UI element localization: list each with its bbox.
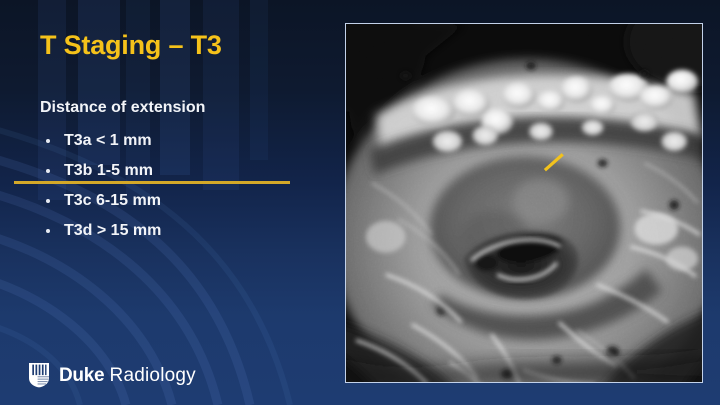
mri-image-panel xyxy=(345,23,703,383)
presentation-slide: T Staging – T3 Distance of extension T3a… xyxy=(0,0,720,405)
duke-radiology-logo: Duke Radiology xyxy=(28,362,196,388)
logo-wordmark: Duke Radiology xyxy=(59,366,196,385)
bullet-dot-icon xyxy=(46,199,50,203)
list-item: T3c 6-15 mm xyxy=(40,186,310,216)
gold-divider-rule xyxy=(14,181,290,184)
bullet-dot-icon xyxy=(46,169,50,173)
bullet-dot-icon xyxy=(46,139,50,143)
duke-shield-icon xyxy=(28,362,50,388)
list-item: T3d > 15 mm xyxy=(40,216,310,246)
bullet-dot-icon xyxy=(46,229,50,233)
logo-brand-text: Duke xyxy=(59,365,104,386)
slide-title: T Staging – T3 xyxy=(40,30,222,61)
logo-department-text: Radiology xyxy=(110,365,196,386)
mri-axial-image xyxy=(346,24,702,382)
staging-bullet-list: T3a < 1 mm T3b 1-5 mm T3c 6-15 mm T3d > … xyxy=(40,126,310,246)
list-item-label: T3b 1-5 mm xyxy=(64,162,153,179)
list-item: T3a < 1 mm xyxy=(40,126,310,156)
list-item-label: T3d > 15 mm xyxy=(64,222,161,239)
list-item-label: T3a < 1 mm xyxy=(64,132,152,149)
slide-body: Distance of extension T3a < 1 mm T3b 1-5… xyxy=(40,99,310,246)
body-lead-text: Distance of extension xyxy=(40,99,310,117)
list-item-label: T3c 6-15 mm xyxy=(64,192,161,209)
